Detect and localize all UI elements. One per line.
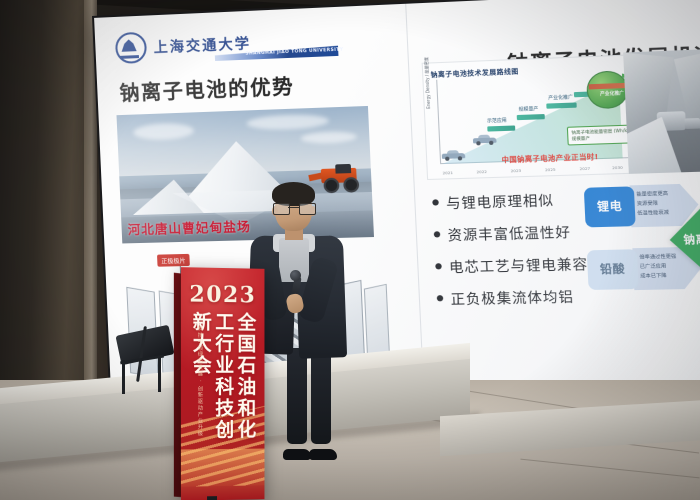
chart-step-bar xyxy=(487,125,515,131)
chart-annotation: 规模量产 xyxy=(518,106,538,113)
conference-photo-scene: 上海交通大学 SHANGHAI JIAO TONG UNIVERSITY 钠离子… xyxy=(0,0,700,500)
chart-y-axis xyxy=(436,80,441,164)
bullet-dot-icon xyxy=(432,199,439,205)
chart-marker-vehicle xyxy=(442,151,466,161)
glasses-icon xyxy=(273,203,314,213)
diagram-tag-cathode: 正极极片 xyxy=(157,254,190,267)
snow-road-photo xyxy=(623,48,700,173)
chart-globe-label: 产业化推广 xyxy=(600,90,624,97)
left-wall-pillar xyxy=(0,0,96,430)
chart-annotation: 示范应用 xyxy=(487,117,507,124)
chart-x-tick: 2021 xyxy=(443,170,453,175)
chart-step-bar xyxy=(546,102,576,108)
university-name: 上海交通大学 xyxy=(153,33,251,57)
chart-title: 钠离子电池技术发展路线图 xyxy=(430,65,519,79)
bullet-label: 正负极集流体均铝 xyxy=(450,285,574,308)
compare-point: 倍率通过性更强 xyxy=(639,252,676,262)
bullet-dot-icon xyxy=(434,231,441,237)
sjtu-seal-icon xyxy=(115,32,147,64)
diamond-label: 钠离子电池 xyxy=(683,232,700,246)
slide-left-title: 钠离子电池的优势 xyxy=(119,70,295,106)
chart-x-tick: 2025 xyxy=(545,167,556,173)
list-item: 资源丰富低温性好 xyxy=(433,220,587,245)
bullet-dot-icon xyxy=(435,263,442,269)
speaker-legs xyxy=(287,348,337,460)
snow-vehicle xyxy=(685,118,700,129)
compare-point: 成本已下降 xyxy=(640,272,677,282)
chart-highlight-note: 中国钠离子电池产业正当时! xyxy=(501,151,598,164)
bullet-label: 电芯工艺与锂电兼容 xyxy=(449,252,589,276)
callout-note: 规模量产 xyxy=(572,134,629,142)
chart-x-tick: 2023 xyxy=(511,168,522,174)
chip-lithium: 锂电 xyxy=(584,186,636,227)
roadmap-chart: 钠离子电池技术发展路线图 Energy Density / 能量密度 示范应 xyxy=(422,54,645,180)
chart-annotation: 产业化推广 xyxy=(548,94,573,101)
bullet-dot-icon xyxy=(437,295,444,301)
chip-lead-acid: 铅酸 xyxy=(587,249,639,290)
chart-x-tick: 2027 xyxy=(579,166,590,172)
bullet-label: 与锂电原理相似 xyxy=(446,189,555,213)
list-item: 正负极集流体均铝 xyxy=(436,285,590,309)
list-item: 与锂电原理相似 xyxy=(432,188,586,213)
chart-marker-vehicle xyxy=(473,135,497,145)
chart-y-axis-label: Energy Density / 能量密度 xyxy=(423,57,432,109)
banner-year: 2023 xyxy=(189,281,256,308)
banner-subtitle: 科技引领绿色发展 · 创新驱动产业升级 xyxy=(194,326,204,457)
microphone-head-icon xyxy=(290,270,301,281)
chart-callout-box: 钠离子电池能量密度 (Wh/kg) 规模量产 xyxy=(567,124,633,145)
compare-point: 低温性能衰减 xyxy=(637,209,669,219)
salt-photo-caption: 河北唐山曹妃甸盐场 xyxy=(127,216,251,238)
podium-banner: 2023 全国石油和化工行业科技创新大会 科技引领绿色发展 · 创新驱动产业升级 xyxy=(181,267,265,500)
chart-x-tick: 2022 xyxy=(476,169,487,174)
podium-stand xyxy=(207,496,217,500)
chart-x-tick: 2030 xyxy=(612,165,623,171)
bullet-label: 资源丰富低温性好 xyxy=(447,221,571,245)
list-item: 电芯工艺与锂电兼容 xyxy=(435,252,589,276)
battery-comparison-group: 锂电 铅酸 能量密度更高 资源受限 低温性能衰减 倍率通过性更强 已广泛应用 成… xyxy=(584,181,700,317)
compare-point: 能量密度更高 xyxy=(636,190,668,200)
advantage-bullet-list: 与锂电原理相似 资源丰富低温性好 电芯工艺与锂电兼容 正负极集流体均铝 xyxy=(432,188,591,320)
chart-step-bar xyxy=(517,114,545,120)
podium-banner-stand: 2023 全国石油和化工行业科技创新大会 科技引领绿色发展 · 创新驱动产业升级 xyxy=(181,267,265,500)
